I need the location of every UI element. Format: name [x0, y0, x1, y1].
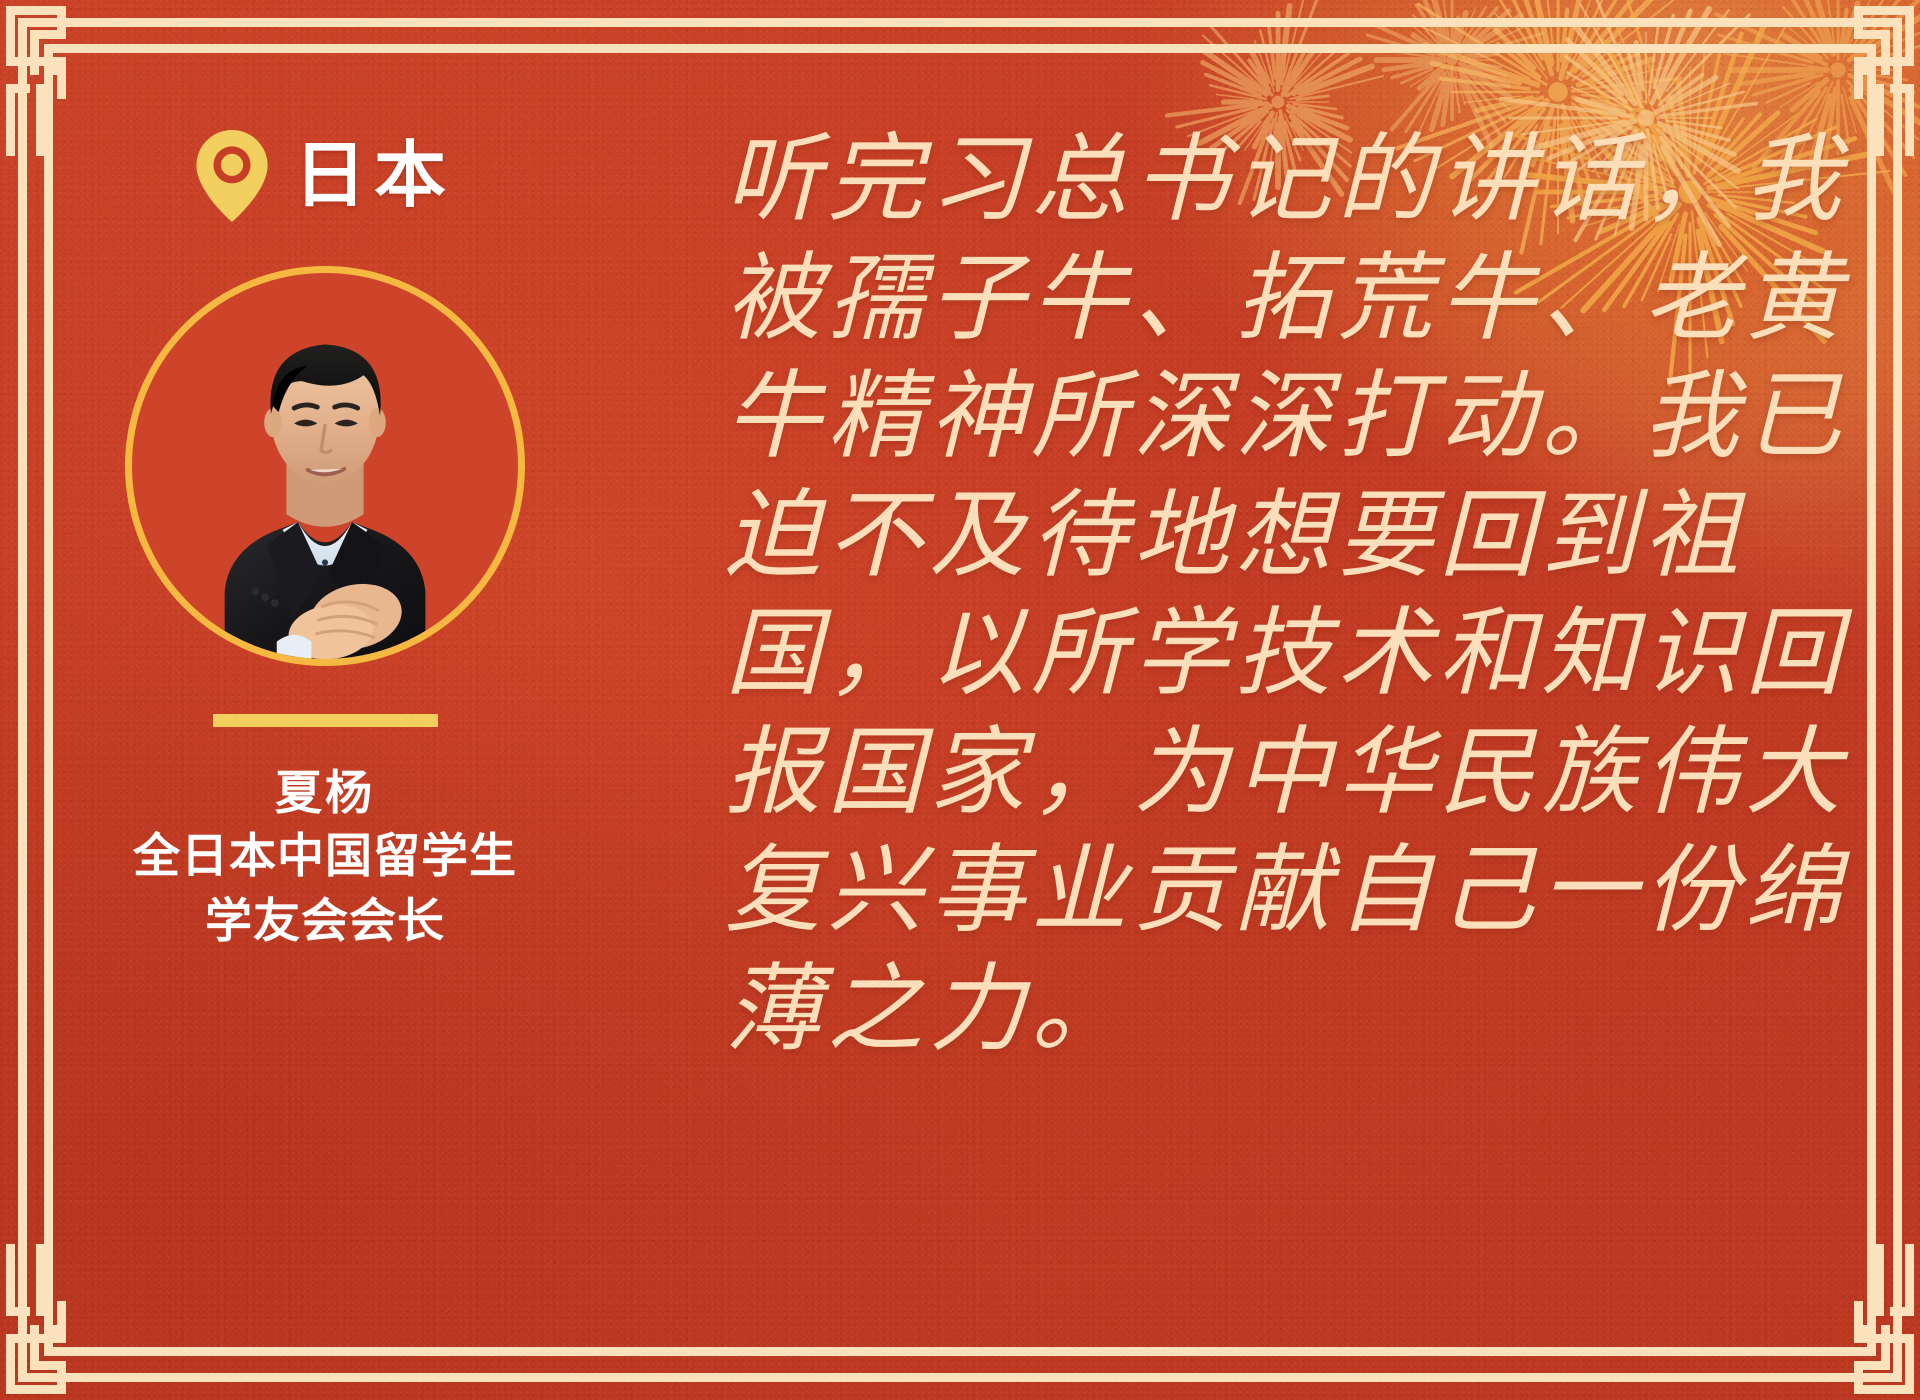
portrait-photo: [132, 273, 518, 659]
quote-line: 迫不及待地想要回到祖: [725, 476, 1835, 595]
quote-line: 听完习总书记的讲话，我: [725, 120, 1835, 239]
person-title-line-1: 全日本中国留学生: [133, 824, 517, 889]
avatar-image-clip: [132, 273, 518, 659]
person-name: 夏杨: [275, 761, 375, 824]
quote-line: 薄之力。: [725, 950, 1835, 1069]
quote-line: 牛精神所深深打动。我已: [725, 357, 1835, 476]
gold-divider: [213, 714, 438, 727]
quote-line: 复兴事业贡献自己一份绵: [725, 831, 1835, 950]
country-label: 日本: [294, 140, 454, 212]
avatar: [125, 266, 525, 666]
quote-line: 国，以所学技术和知识回: [725, 594, 1835, 713]
person-title-line-2: 学友会会长: [205, 889, 445, 954]
location-badge: 日本: [196, 130, 454, 222]
quote-line: 报国家，为中华民族伟大: [725, 713, 1835, 832]
quote-line: 被孺子牛、拓荒牛、老黄: [725, 239, 1835, 358]
location-pin-icon: [196, 130, 268, 222]
quote-text: 听完习总书记的讲话，我 被孺子牛、拓荒牛、老黄 牛精神所深深打动。我已 迫不及待…: [725, 120, 1835, 1068]
corner-fret-bottom-left: [6, 1244, 156, 1394]
profile-column: 日本: [90, 130, 560, 954]
poster-canvas: 日本: [0, 0, 1920, 1400]
corner-fret-bottom-right: [1764, 1244, 1914, 1394]
